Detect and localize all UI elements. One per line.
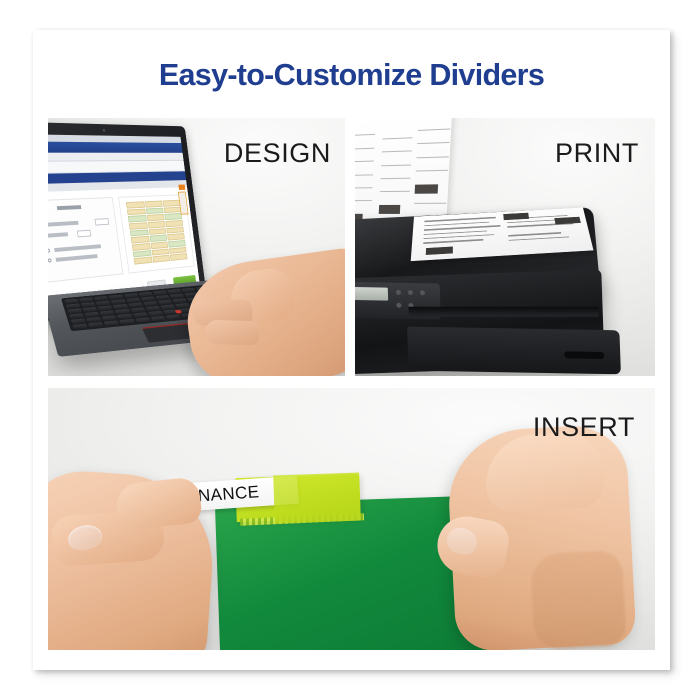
- fingers-behind-divider: [530, 550, 627, 650]
- label-cell: [170, 253, 187, 260]
- form-row: [48, 229, 111, 240]
- radio-icon: [48, 248, 51, 252]
- printer-illustration: [355, 162, 655, 376]
- panel-tagline-print: PRINT: [555, 138, 639, 169]
- tab-translucent-overlay: [273, 473, 361, 524]
- form-label-placeholder: [56, 254, 98, 262]
- product-info-card: Easy-to-Customize Dividers: [33, 30, 670, 670]
- left-hand: [48, 468, 218, 650]
- screenshot-root: Easy-to-Customize Dividers: [0, 0, 700, 700]
- printer-button-icon[interactable]: [396, 303, 401, 308]
- panel-tagline-insert: INSERT: [533, 412, 635, 443]
- printer-button-icon[interactable]: [396, 290, 401, 295]
- label-cell: [134, 257, 153, 265]
- form-label-placeholder: [48, 221, 79, 227]
- printer-output-tray: [407, 327, 621, 375]
- label-cell: [145, 200, 163, 207]
- label-cell: [126, 201, 145, 208]
- form-input-placeholder: [77, 230, 91, 238]
- printer-button-icon[interactable]: [408, 290, 413, 295]
- form-label-placeholder: [54, 244, 101, 252]
- app-nav-bar: [48, 141, 183, 152]
- form-heading-placeholder: [57, 205, 82, 210]
- right-hand: [445, 423, 636, 650]
- form-input-placeholder: [95, 218, 110, 225]
- printer-button-icon[interactable]: [420, 290, 425, 295]
- radio-icon: [48, 258, 52, 262]
- laptop-illustration: [48, 146, 345, 376]
- page-title: Easy-to-Customize Dividers: [33, 58, 670, 93]
- label-grid: [126, 200, 188, 265]
- tray-handle[interactable]: [564, 351, 604, 359]
- panel-insert: FINANCE INSERT: [48, 388, 655, 650]
- label-cell: [146, 207, 164, 214]
- hand-on-laptop: [180, 246, 345, 376]
- thumb: [114, 476, 202, 531]
- label-cell: [152, 255, 170, 263]
- printed-column: [355, 123, 377, 234]
- printer-lcd-display: [355, 287, 388, 301]
- label-cell: [163, 200, 181, 207]
- label-cell: [164, 206, 182, 213]
- finger: [205, 320, 260, 346]
- panel-design: DESIGN: [48, 118, 345, 376]
- form-label-placeholder: [48, 233, 68, 239]
- printer-body: [355, 269, 605, 374]
- panel-print: PRINT: [355, 118, 655, 376]
- panel-tagline-design: DESIGN: [224, 138, 331, 169]
- label-cell: [127, 208, 146, 215]
- form-row: [48, 218, 110, 229]
- printer-output-slot: [408, 307, 598, 317]
- design-form-panel: [48, 197, 123, 283]
